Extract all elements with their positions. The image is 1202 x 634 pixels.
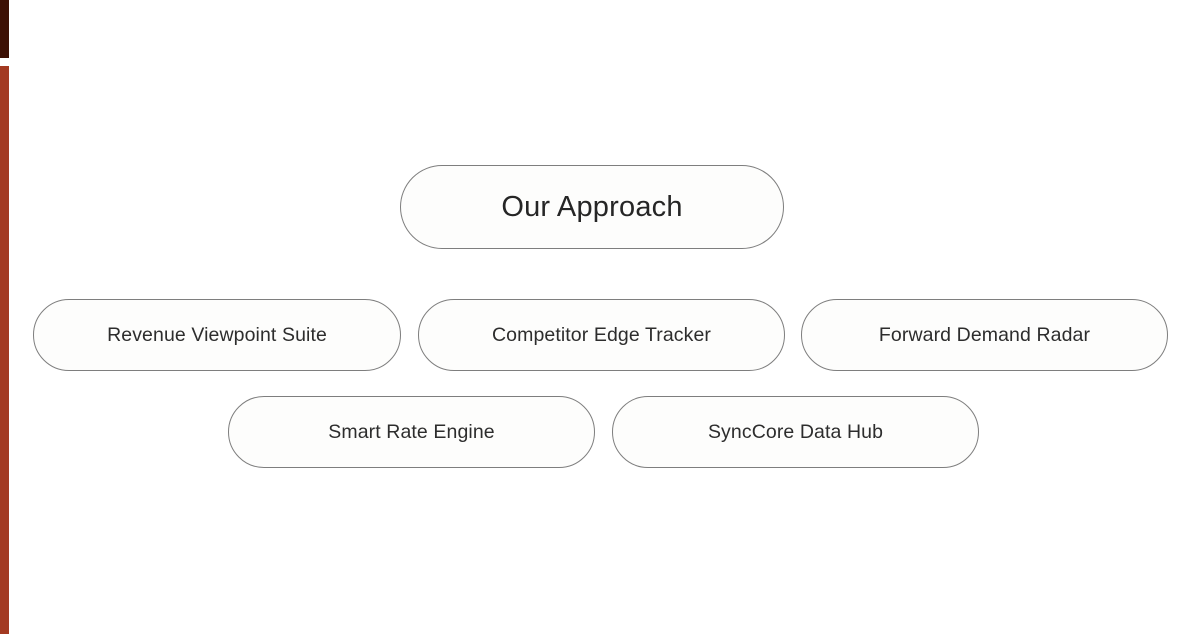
node-competitor-edge-tracker[interactable]: Competitor Edge Tracker (418, 299, 785, 371)
approach-diagram: Our Approach Revenue Viewpoint Suite Com… (0, 0, 1202, 634)
node-revenue-viewpoint-suite-label: Revenue Viewpoint Suite (107, 324, 327, 347)
node-smart-rate-engine-label: Smart Rate Engine (328, 421, 494, 444)
node-forward-demand-radar-label: Forward Demand Radar (879, 324, 1090, 347)
node-revenue-viewpoint-suite[interactable]: Revenue Viewpoint Suite (33, 299, 401, 371)
node-synccore-data-hub[interactable]: SyncCore Data Hub (612, 396, 979, 468)
node-synccore-data-hub-label: SyncCore Data Hub (708, 421, 883, 444)
node-smart-rate-engine[interactable]: Smart Rate Engine (228, 396, 595, 468)
node-forward-demand-radar[interactable]: Forward Demand Radar (801, 299, 1168, 371)
node-our-approach-label: Our Approach (501, 191, 682, 224)
node-competitor-edge-tracker-label: Competitor Edge Tracker (492, 324, 711, 347)
node-our-approach[interactable]: Our Approach (400, 165, 784, 249)
